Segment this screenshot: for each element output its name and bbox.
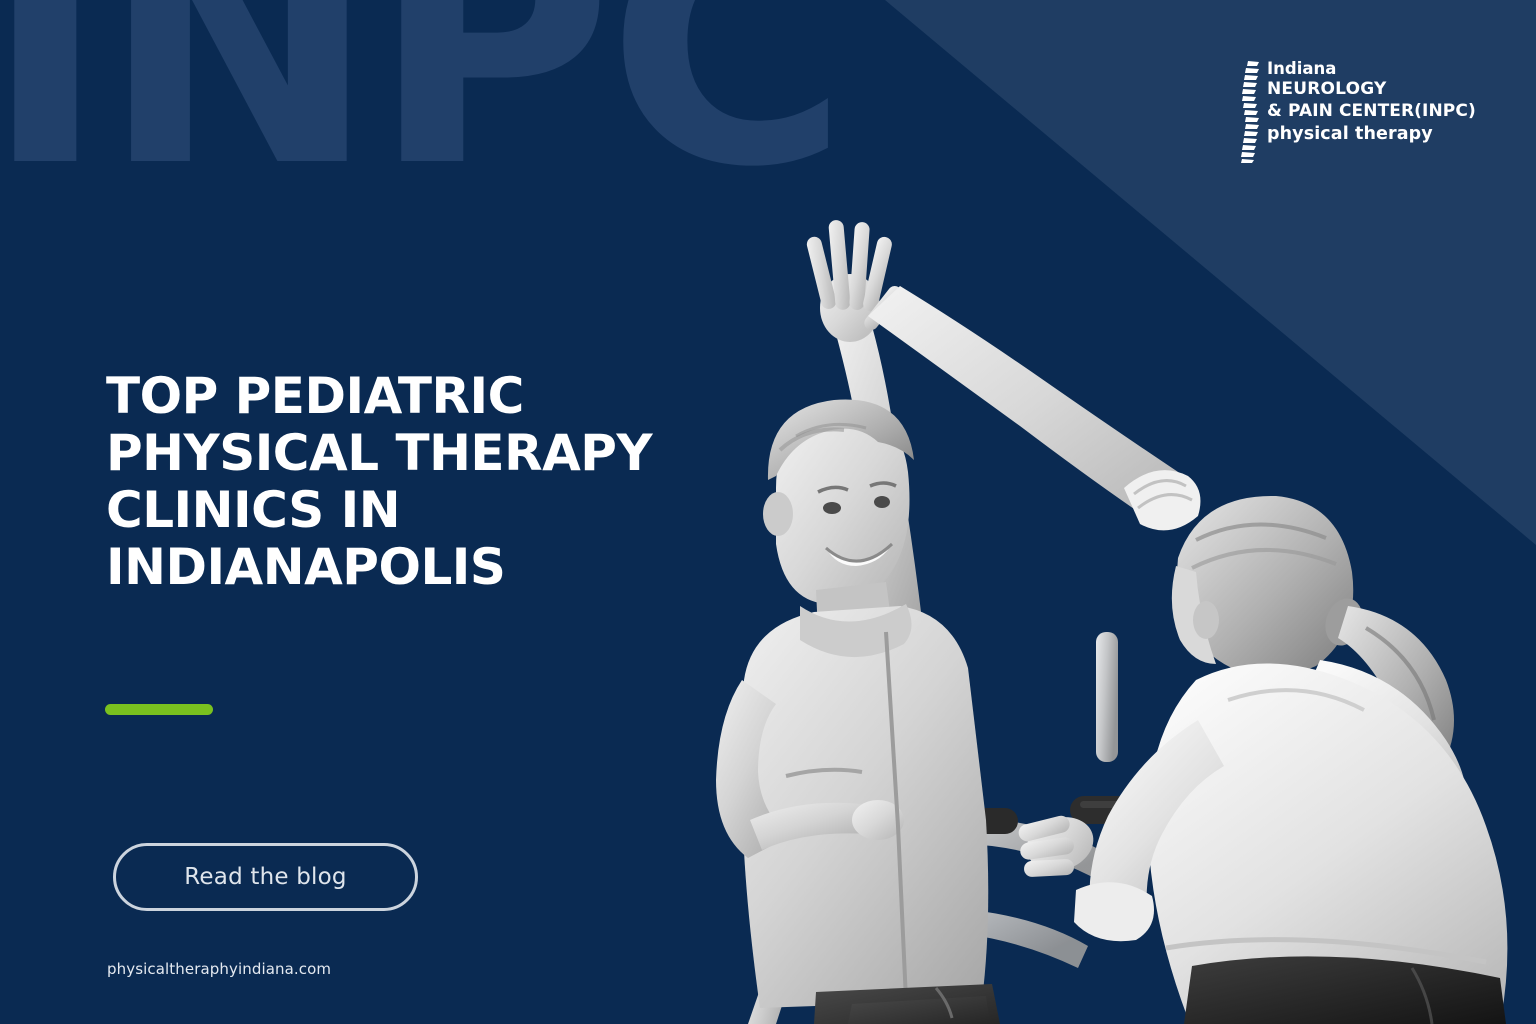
inpc-watermark: INPC bbox=[0, 0, 843, 212]
logo-wordmark: Indiana NEUROLOGY & PAIN CENTER(INPC) ph… bbox=[1267, 58, 1476, 145]
page-title: TOP PEDIATRIC PHYSICAL THERAPY CLINICS I… bbox=[106, 368, 806, 596]
inpc-logo[interactable]: Indiana NEUROLOGY & PAIN CENTER(INPC) ph… bbox=[1237, 58, 1476, 169]
logo-line-neurology: NEUROLOGY bbox=[1267, 79, 1476, 101]
website-url[interactable]: physicaltheraphyindiana.com bbox=[107, 960, 331, 978]
read-the-blog-button[interactable]: Read the blog bbox=[113, 843, 418, 911]
logo-line-indiana: Indiana bbox=[1267, 58, 1476, 79]
logo-line-pain-center: & PAIN CENTER(INPC) bbox=[1267, 101, 1476, 123]
spine-icon bbox=[1237, 60, 1263, 169]
green-accent-bar bbox=[105, 704, 213, 715]
logo-line-physical-therapy: physical therapy bbox=[1267, 123, 1476, 146]
hero-banner: INPC bbox=[0, 0, 1536, 1024]
